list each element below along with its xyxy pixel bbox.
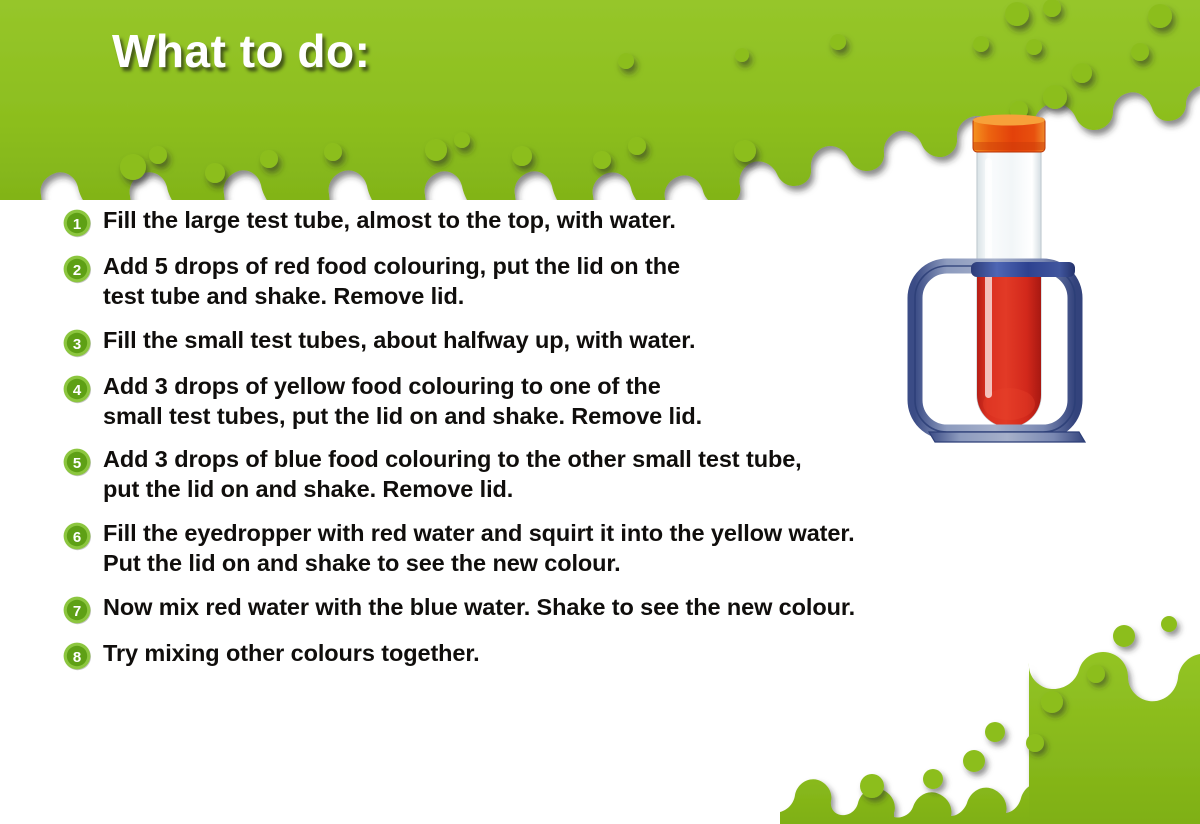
step-text: Now mix red water with the blue water. S… xyxy=(103,593,855,623)
step-text: Fill the small test tubes, about halfway… xyxy=(103,326,695,356)
test-tube-lid xyxy=(973,115,1045,153)
step-line-2: test tube and shake. Remove lid. xyxy=(103,282,680,312)
list-item: 8 Try mixing other colours together. xyxy=(62,639,1092,671)
step-number-badge-4: 4 xyxy=(62,374,92,404)
step-line-2: Put the lid on and shake to see the new … xyxy=(103,549,855,579)
step-line-1: Now mix red water with the blue water. S… xyxy=(103,594,855,620)
step-text: Add 3 drops of blue food colouring to th… xyxy=(103,445,802,505)
step-text: Add 5 drops of red food colouring, put t… xyxy=(103,252,680,312)
list-item: 4 Add 3 drops of yellow food colouring t… xyxy=(62,372,1092,432)
step-text: Fill the large test tube, almost to the … xyxy=(103,206,676,236)
instructions-list: 1 Fill the large test tube, almost to th… xyxy=(62,206,1092,685)
step-line-1: Fill the small test tubes, about halfway… xyxy=(103,327,695,353)
step-number-badge-8: 8 xyxy=(62,641,92,671)
list-item: 2 Add 5 drops of red food colouring, put… xyxy=(62,252,1092,312)
step-line-2: small test tubes, put the lid on and sha… xyxy=(103,402,702,432)
step-number-text: 1 xyxy=(73,216,81,233)
step-line-1: Try mixing other colours together. xyxy=(103,640,480,666)
step-number-badge-6: 6 xyxy=(62,521,92,551)
step-number-text: 6 xyxy=(73,529,81,546)
step-number-badge-3: 3 xyxy=(62,328,92,358)
step-number-text: 8 xyxy=(73,649,81,666)
step-number-text: 4 xyxy=(73,382,82,399)
step-line-1: Fill the large test tube, almost to the … xyxy=(103,207,676,233)
step-number-text: 2 xyxy=(73,262,81,279)
step-number-text: 7 xyxy=(73,603,81,620)
page-title: What to do: xyxy=(112,24,370,78)
step-text: Add 3 drops of yellow food colouring to … xyxy=(103,372,702,432)
step-line-1: Fill the eyedropper with red water and s… xyxy=(103,520,855,546)
step-number-text: 5 xyxy=(73,456,81,473)
step-line-1: Add 3 drops of blue food colouring to th… xyxy=(103,446,802,472)
list-item: 6 Fill the eyedropper with red water and… xyxy=(62,519,1092,579)
step-number-badge-1: 1 xyxy=(62,208,92,238)
step-line-1: Add 5 drops of red food colouring, put t… xyxy=(103,253,680,279)
step-number-badge-5: 5 xyxy=(62,447,92,477)
list-item: 7 Now mix red water with the blue water.… xyxy=(62,593,1092,625)
step-line-1: Add 3 drops of yellow food colouring to … xyxy=(103,373,661,399)
step-text: Fill the eyedropper with red water and s… xyxy=(103,519,855,579)
step-number-text: 3 xyxy=(73,336,81,353)
step-line-2: put the lid on and shake. Remove lid. xyxy=(103,475,802,505)
list-item: 5 Add 3 drops of blue food colouring to … xyxy=(62,445,1092,505)
activity-card: What to do: 1 Fill the large test tube, … xyxy=(0,0,1200,824)
step-text: Try mixing other colours together. xyxy=(103,639,480,669)
step-number-badge-2: 2 xyxy=(62,254,92,284)
step-number-badge-7: 7 xyxy=(62,595,92,625)
list-item: 1 Fill the large test tube, almost to th… xyxy=(62,206,1092,238)
list-item: 3 Fill the small test tubes, about halfw… xyxy=(62,326,1092,358)
